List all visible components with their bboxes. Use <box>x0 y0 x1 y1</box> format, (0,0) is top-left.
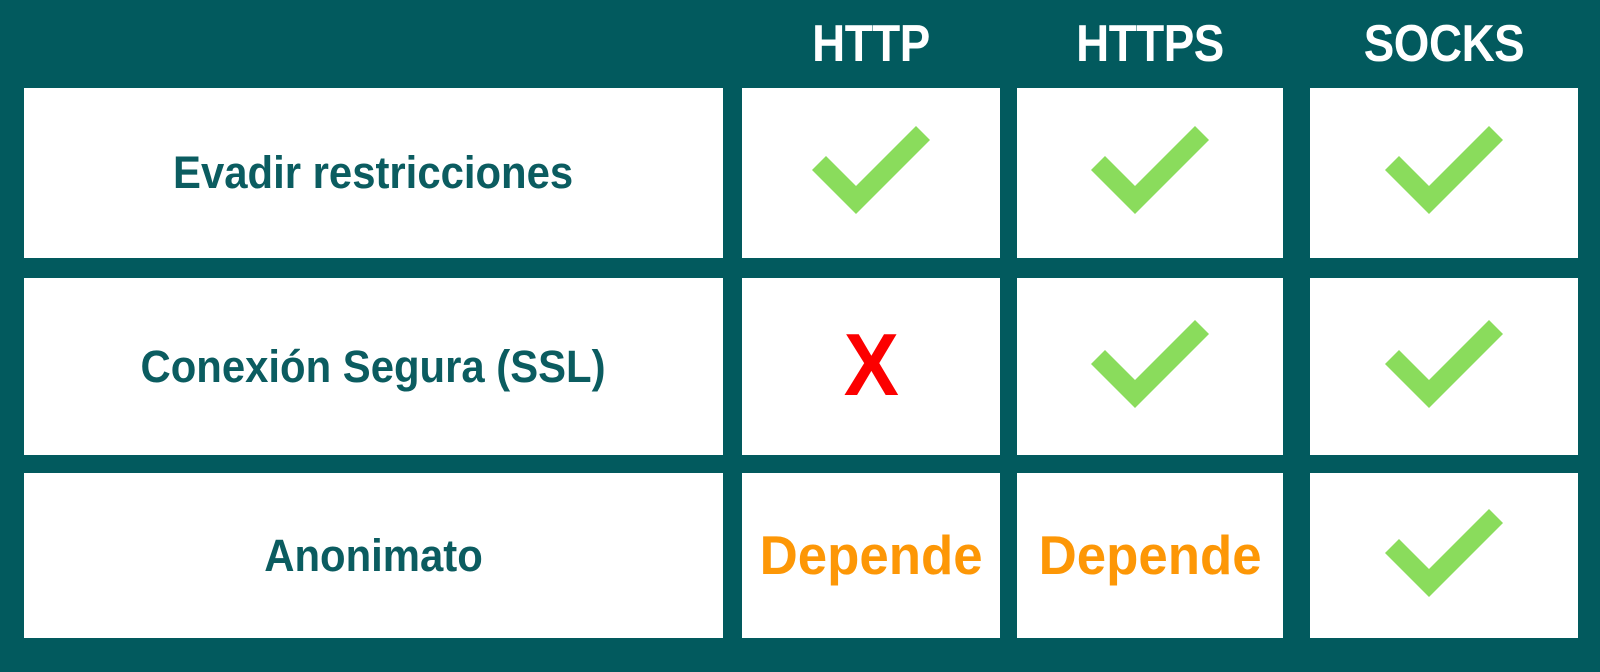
check-icon <box>1379 118 1509 222</box>
column-header-label: HTTP <box>812 18 930 70</box>
check-icon <box>1379 501 1509 605</box>
cross-icon: X <box>843 321 898 409</box>
proxy-comparison-table: HTTP HTTPS SOCKS Evadir restricciones Co… <box>0 0 1600 672</box>
table-cell <box>742 88 1000 258</box>
column-header-http: HTTP <box>757 0 984 88</box>
table-cell <box>1017 88 1283 258</box>
check-icon <box>1085 118 1215 222</box>
depends-text: Depende <box>760 528 983 583</box>
depends-text: Depende <box>1039 528 1262 583</box>
column-header-socks: SOCKS <box>1326 0 1562 88</box>
row-label: Anonimato <box>264 532 483 579</box>
table-cell: X <box>742 278 1000 455</box>
table-cell: Depende <box>742 473 1000 638</box>
column-header-label: SOCKS <box>1364 18 1525 70</box>
table-cell <box>1310 473 1578 638</box>
table-cell: Depende <box>1017 473 1283 638</box>
column-header-https: HTTPS <box>1033 0 1267 88</box>
table-cell <box>1017 278 1283 455</box>
row-label-cell: Evadir restricciones <box>24 88 723 258</box>
column-header-label: HTTPS <box>1076 18 1224 70</box>
row-label: Evadir restricciones <box>173 149 573 196</box>
row-label-cell: Conexión Segura (SSL) <box>24 278 723 455</box>
check-icon <box>1379 312 1509 416</box>
table-cell <box>1310 88 1578 258</box>
row-label-cell: Anonimato <box>24 473 723 638</box>
row-label: Conexión Segura (SSL) <box>141 343 606 390</box>
check-icon <box>806 118 936 222</box>
check-icon <box>1085 312 1215 416</box>
table-header-row: HTTP HTTPS SOCKS <box>0 0 1600 88</box>
table-cell <box>1310 278 1578 455</box>
